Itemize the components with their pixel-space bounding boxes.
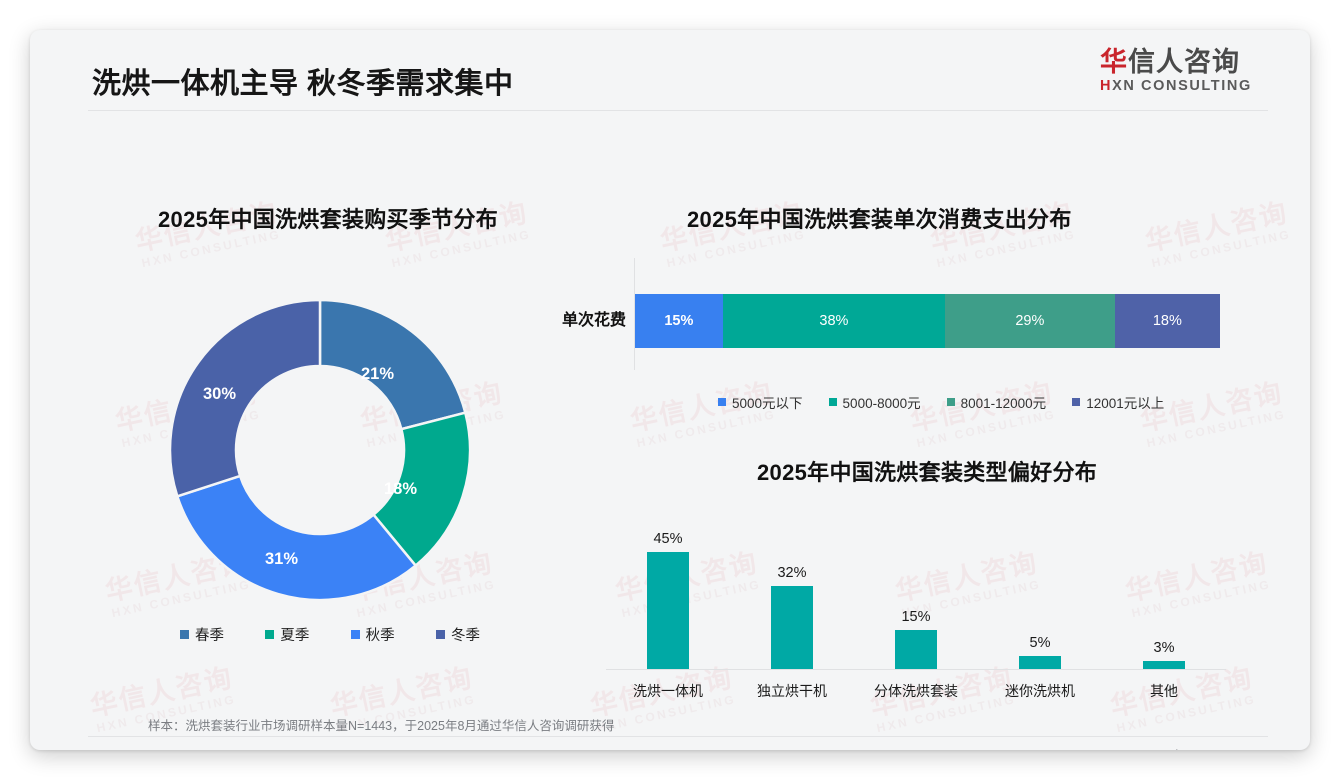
donut-legend-item[interactable]: 春季 [180, 624, 224, 645]
bar-columns: 45%洗烘一体机32%独立烘干机15%分体洗烘套装5%迷你洗烘机3%其他 [606, 509, 1226, 669]
stacked-segment[interactable]: 38% [723, 294, 945, 348]
bar-rect[interactable] [771, 586, 813, 669]
bar-column[interactable]: 5%迷你洗烘机 [978, 509, 1102, 669]
stacked-legend-item[interactable]: 5000元以下 [718, 392, 803, 412]
bar-column[interactable]: 45%洗烘一体机 [606, 509, 730, 669]
donut-slice[interactable] [177, 476, 415, 600]
legend-swatch-icon [829, 398, 837, 406]
stacked-legend-item[interactable]: 5000-8000元 [829, 392, 921, 412]
bar-column[interactable]: 32%独立烘干机 [730, 509, 854, 669]
bar-value-label: 45% [653, 531, 682, 547]
bar-baseline-axis [606, 669, 1226, 670]
stacked-segment-label: 18% [1153, 313, 1182, 329]
donut-legend-item[interactable]: 夏季 [265, 624, 309, 645]
stacked-bar-track: 15%38%29%18% [635, 294, 1220, 348]
donut-value-label: 18% [384, 480, 417, 499]
spend-stacked-chart: 单次花费 15%38%29%18% [530, 258, 1230, 378]
donut-value-label: 30% [203, 385, 236, 404]
donut-legend-label: 夏季 [280, 624, 309, 645]
bar-category-label: 迷你洗烘机 [1005, 681, 1075, 701]
logo-en-rest: XN CONSULTING [1112, 78, 1252, 94]
bar-rect[interactable] [1143, 661, 1185, 669]
footer-divider [88, 736, 1268, 737]
donut-legend-item[interactable]: 秋季 [351, 624, 395, 645]
legend-swatch-icon [1072, 398, 1080, 406]
bar-category-label: 其他 [1150, 681, 1178, 701]
donut-legend-label: 春季 [195, 624, 224, 645]
legend-swatch-icon [351, 630, 360, 639]
stacked-segment[interactable]: 15% [635, 294, 723, 348]
bar-column[interactable]: 15%分体洗烘套装 [854, 509, 978, 669]
sample-footnote: 样本：洗烘套装行业市场调研样本量N=1443，于2025年8月通过华信人咨询调研… [148, 715, 614, 734]
stacked-legend-item[interactable]: 12001元以上 [1072, 392, 1164, 412]
company-logo: 华信人咨询 HXN CONSULTING [1100, 48, 1275, 94]
legend-swatch-icon [436, 630, 445, 639]
stacked-segment[interactable]: 18% [1115, 294, 1220, 348]
stacked-category-label: 单次花费 [530, 306, 626, 330]
website-url: www.hxrcon.com [1146, 748, 1240, 750]
bar-value-label: 5% [1030, 635, 1051, 651]
logo-chinese-rest: 信人咨询 [1128, 47, 1240, 77]
stacked-legend-label: 5000元以下 [732, 392, 803, 412]
donut-chart-title: 2025年中国洗烘套装购买季节分布 [158, 202, 498, 234]
type-preference-chart: 45%洗烘一体机32%独立烘干机15%分体洗烘套装5%迷你洗烘机3%其他 [606, 500, 1226, 710]
bar-value-label: 15% [901, 609, 930, 625]
donut-legend: 春季夏季秋季冬季 [180, 624, 480, 645]
legend-swatch-icon [180, 630, 189, 639]
donut-value-label: 31% [265, 550, 298, 569]
logo-english-text: HXN CONSULTING [1100, 78, 1275, 94]
legend-swatch-icon [947, 398, 955, 406]
donut-legend-label: 冬季 [451, 624, 480, 645]
stacked-segment[interactable]: 29% [945, 294, 1115, 348]
donut-legend-item[interactable]: 冬季 [436, 624, 480, 645]
bar-rect[interactable] [1019, 656, 1061, 669]
logo-chinese-text: 华信人咨询 [1100, 48, 1275, 77]
header-divider [88, 110, 1268, 111]
slide-canvas: 华信人咨询HXN CONSULTING华信人咨询HXN CONSULTING华信… [30, 30, 1310, 750]
stacked-segment-label: 38% [819, 313, 848, 329]
bar-rect[interactable] [895, 630, 937, 669]
bar-value-label: 3% [1154, 640, 1175, 656]
stacked-legend-item[interactable]: 8001-12000元 [947, 392, 1047, 412]
season-donut-chart: 21% 18% 31% 30% [165, 295, 475, 605]
page-title: 洗烘一体机主导 秋冬季需求集中 [92, 60, 514, 102]
bar-category-label: 洗烘一体机 [633, 681, 703, 701]
bar-chart-title: 2025年中国洗烘套装类型偏好分布 [757, 455, 1097, 487]
slide-header: 洗烘一体机主导 秋冬季需求集中 华信人咨询 HXN CONSULTING [30, 30, 1310, 120]
stacked-legend-label: 8001-12000元 [961, 392, 1047, 412]
stacked-legend: 5000元以下5000-8000元8001-12000元12001元以上 [718, 392, 1164, 412]
logo-accent-char: 华 [1100, 47, 1128, 77]
bar-value-label: 32% [777, 565, 806, 581]
bar-category-label: 分体洗烘套装 [874, 681, 958, 701]
donut-legend-label: 秋季 [366, 624, 395, 645]
bar-column[interactable]: 3%其他 [1102, 509, 1226, 669]
legend-swatch-icon [718, 398, 726, 406]
logo-en-accent: H [1100, 78, 1112, 94]
stacked-legend-label: 12001元以上 [1086, 392, 1164, 412]
legend-swatch-icon [265, 630, 274, 639]
stacked-legend-label: 5000-8000元 [843, 392, 921, 412]
bar-category-label: 独立烘干机 [757, 681, 827, 701]
copyright-text: ©2025.10 HXR华信人咨询 [100, 748, 247, 750]
bar-rect[interactable] [647, 552, 689, 669]
stacked-segment-label: 29% [1015, 313, 1044, 329]
donut-svg [165, 295, 475, 605]
stacked-segment-label: 15% [664, 313, 693, 329]
donut-value-label: 21% [361, 365, 394, 384]
stacked-chart-title: 2025年中国洗烘套装单次消费支出分布 [687, 202, 1072, 234]
donut-slice[interactable] [170, 300, 320, 496]
